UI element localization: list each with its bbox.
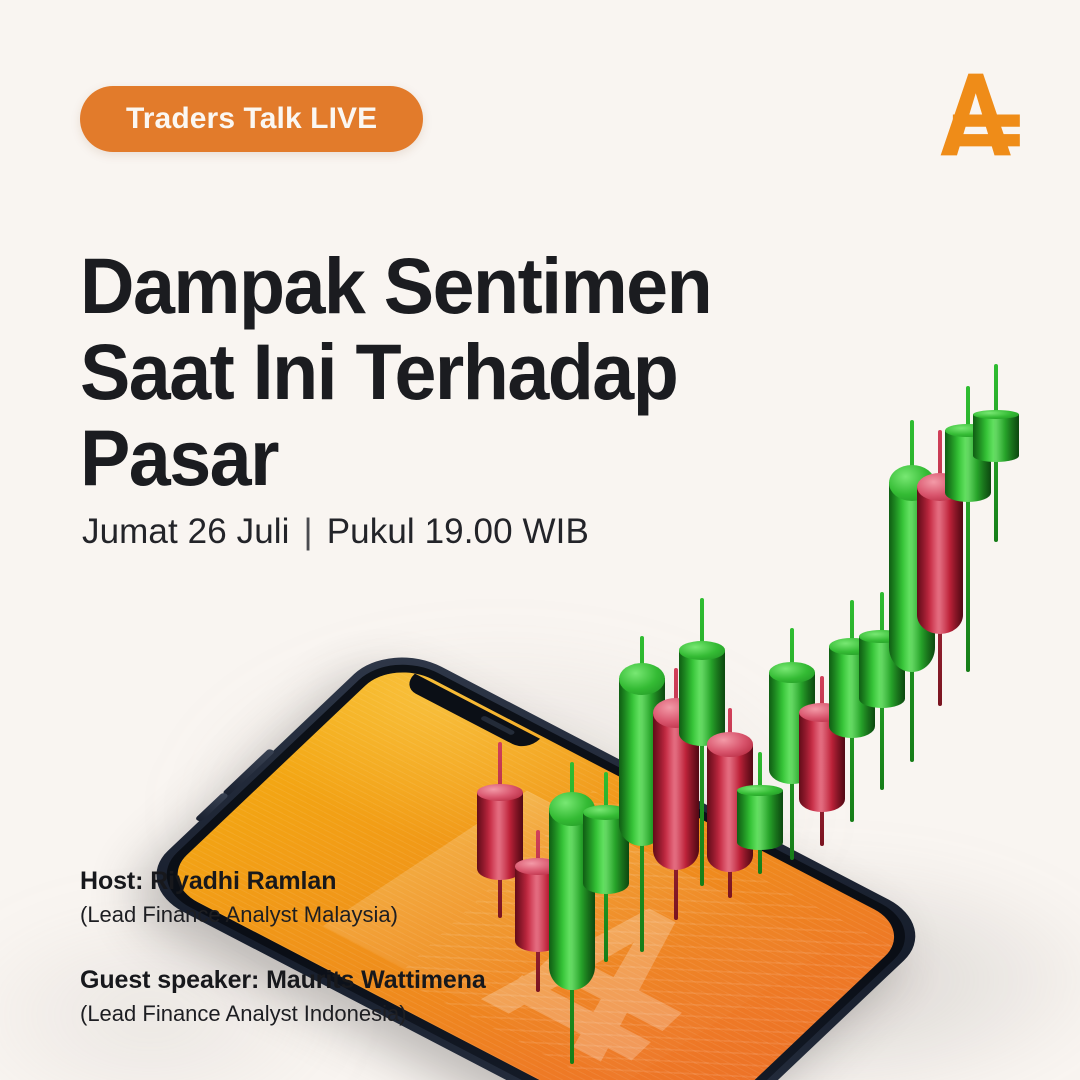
schedule-date: Jumat 26 Juli xyxy=(82,512,290,552)
guest-credit: Guest speaker: Maurits Wattimena (Lead F… xyxy=(80,965,486,1028)
candle-body-side xyxy=(973,414,1019,462)
candle-body xyxy=(945,430,991,502)
host-credit: Host: Riyadhi Ramlan (Lead Finance Analy… xyxy=(80,866,486,929)
candle-body xyxy=(973,414,1019,462)
page-title: Dampak Sentimen Saat Ini Terhadap Pasar xyxy=(80,243,806,501)
host-name: Host: Riyadhi Ramlan xyxy=(80,866,486,898)
speaker-credits: Host: Riyadhi Ramlan (Lead Finance Analy… xyxy=(80,866,486,1064)
candle-body-top-ellipse xyxy=(917,473,963,501)
guest-name: Guest speaker: Maurits Wattimena xyxy=(80,965,486,997)
schedule-separator: | xyxy=(304,512,313,552)
headline-line-1: Dampak Sentimen xyxy=(80,243,806,329)
guest-role: (Lead Finance Analyst Indonesia) xyxy=(80,1000,486,1029)
candle-body-top-ellipse xyxy=(973,410,1019,419)
schedule-time: Pukul 19.00 WIB xyxy=(327,512,589,552)
candle-body-top-ellipse xyxy=(945,424,991,438)
candle-body-shading xyxy=(973,414,1019,462)
host-role: (Lead Finance Analyst Malaysia) xyxy=(80,901,486,930)
candle-wick xyxy=(994,364,998,542)
poster-canvas: Traders Talk LIVE Dampak Sentimen Saat I… xyxy=(0,0,1080,1080)
schedule-line: Jumat 26 Juli | Pukul 19.00 WIB xyxy=(82,512,589,552)
live-badge-label: Traders Talk LIVE xyxy=(126,102,377,136)
live-badge: Traders Talk LIVE xyxy=(80,86,423,152)
headline-line-2: Saat Ini Terhadap xyxy=(80,329,806,415)
headline-line-3: Pasar xyxy=(80,415,806,501)
candle-body-top-ellipse xyxy=(889,465,935,501)
candle-body-shading xyxy=(945,430,991,502)
candle-body-side xyxy=(945,430,991,502)
letter-a-currency-logo-icon xyxy=(930,62,1028,167)
candle-17-bullish xyxy=(973,364,1019,542)
